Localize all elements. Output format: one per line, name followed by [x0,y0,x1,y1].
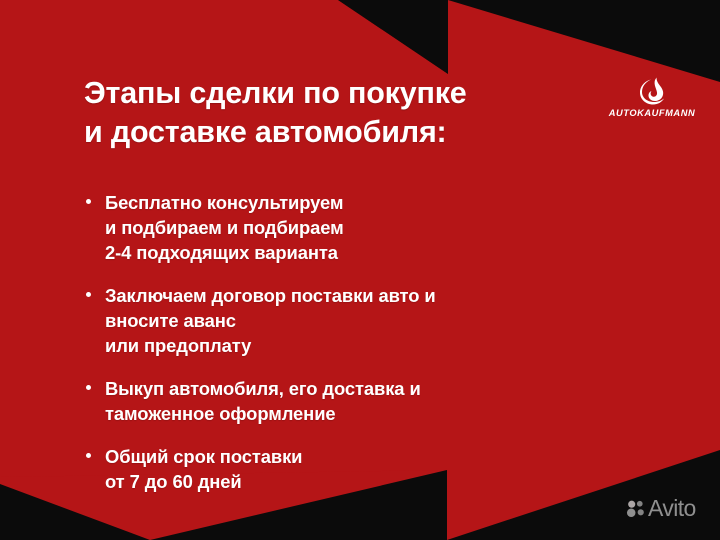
bullet-dot-icon [86,199,91,204]
brand-wordmark: AUTOKAUFMANN [596,108,708,118]
list-item-text: Заключаем договор поставки авто и вносит… [105,283,644,358]
list-item-line: таможенное оформление [105,401,644,426]
avito-dots-icon [626,499,645,518]
bullet-dot-icon [86,453,91,458]
steps-list: Бесплатно консультируем и подбираем и по… [84,190,644,494]
list-item-text: Общий срок поставки от 7 до 60 дней [105,444,644,494]
list-item: Бесплатно консультируем и подбираем и по… [84,190,644,265]
list-item-line: Бесплатно консультируем [105,190,644,215]
list-item-text: Выкуп автомобиля, его доставка и таможен… [105,376,644,426]
bullet-dot-icon [86,385,91,390]
list-item-line: или предоплату [105,333,644,358]
avito-watermark: Avito [626,497,696,520]
avito-wordmark: Avito [648,497,696,520]
list-item-line: от 7 до 60 дней [105,469,644,494]
list-item-line: Выкуп автомобиля, его доставка и [105,376,644,401]
list-item: Выкуп автомобиля, его доставка и таможен… [84,376,644,426]
list-item: Заключаем договор поставки авто и вносит… [84,283,644,358]
list-item-line: 2-4 подходящих варианта [105,240,644,265]
list-item: Общий срок поставки от 7 до 60 дней [84,444,644,494]
promo-banner: Этапы сделки по покупке и доставке автом… [0,0,720,540]
list-item-line: и подбираем и подбираем [105,215,644,240]
headline-line-2: и доставке автомобиля: [84,113,614,152]
bullet-dot-icon [86,292,91,297]
list-item-text: Бесплатно консультируем и подбираем и по… [105,190,644,265]
headline-line-1: Этапы сделки по покупке [84,74,614,113]
list-item-line: Заключаем договор поставки авто и [105,283,644,308]
autokaufmann-flame-icon [636,76,668,106]
brand-logo: AUTOKAUFMANN [596,76,708,118]
list-item-line: Общий срок поставки [105,444,644,469]
list-item-line: вносите аванс [105,308,644,333]
page-title: Этапы сделки по покупке и доставке автом… [84,74,614,152]
